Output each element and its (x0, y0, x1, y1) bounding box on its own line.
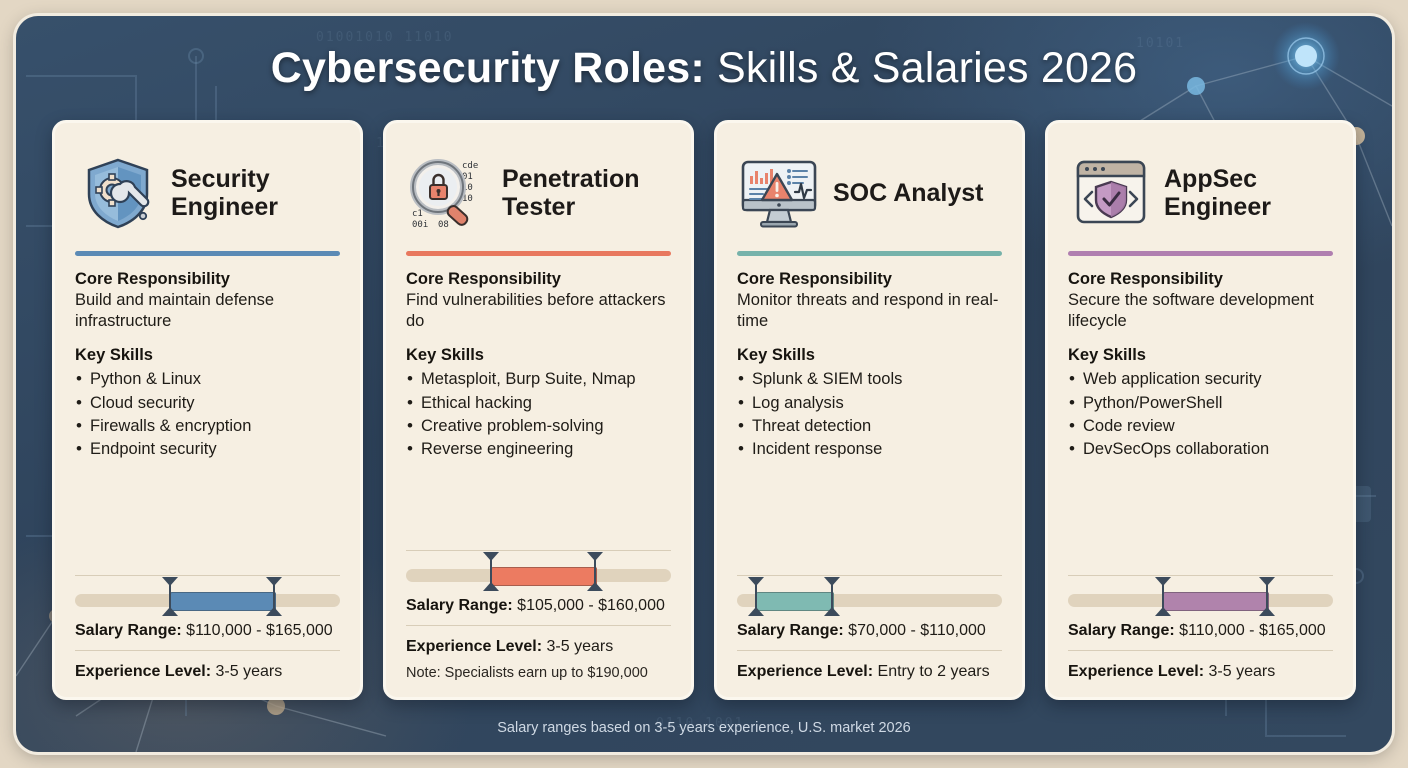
core-responsibility-label: Core Responsibility (737, 270, 1002, 289)
footer-note: Salary ranges based on 3-5 years experie… (16, 720, 1392, 736)
list-item: Python & Linux (75, 368, 340, 391)
accent-bar (737, 251, 1002, 256)
key-skills-list: Web application security Python/PowerShe… (1068, 368, 1333, 462)
key-skills-label: Key Skills (75, 346, 340, 365)
experience-value: 3-5 years (216, 663, 283, 680)
slider-fill (491, 567, 597, 586)
title-strong: Cybersecurity Roles: (271, 44, 705, 92)
salary-range-slider (737, 588, 1002, 612)
key-skills-label: Key Skills (737, 346, 1002, 365)
role-title: AppSec Engineer (1164, 165, 1333, 221)
magnifier-padlock-binary-icon: cde01 1010 c100i 08 (406, 154, 492, 232)
salary-note: Note: Specialists earn up to $190,000 (406, 665, 671, 681)
core-responsibility-label: Core Responsibility (1068, 270, 1333, 289)
list-item: Ethical hacking (406, 392, 671, 415)
role-card-security-engineer[interactable]: Security Engineer Core Responsibility Bu… (52, 120, 363, 700)
list-item: Splunk & SIEM tools (737, 368, 1002, 391)
divider (406, 550, 671, 551)
card-header: cde01 1010 c100i 08 (406, 141, 671, 245)
role-title: SOC Analyst (833, 179, 984, 207)
infographic-poster: 01001010 11010 1001101 10101 0110 1001 C… (0, 0, 1408, 768)
salary-range-slider (406, 563, 671, 587)
experience-value: 3-5 years (547, 638, 614, 655)
svg-text:08: 08 (438, 220, 449, 230)
list-item: DevSecOps collaboration (1068, 438, 1333, 461)
role-card-appsec-engineer[interactable]: AppSec Engineer Core Responsibility Secu… (1045, 120, 1356, 700)
salary-range-value: $70,000 - $110,000 (848, 622, 986, 639)
core-responsibility-label: Core Responsibility (406, 270, 671, 289)
core-responsibility-text: Find vulnerabilities before attackers do (406, 290, 671, 332)
salary-range-label: Salary Range: (1068, 622, 1175, 639)
experience-value: Entry to 2 years (878, 663, 990, 680)
role-title: Security Engineer (171, 165, 340, 221)
key-skills-list: Splunk & SIEM tools Log analysis Threat … (737, 368, 1002, 462)
list-item: Cloud security (75, 392, 340, 415)
key-skills-label: Key Skills (406, 346, 671, 365)
core-responsibility-label: Core Responsibility (75, 270, 340, 289)
salary-range-slider (1068, 588, 1333, 612)
divider (1068, 650, 1333, 651)
list-item: Threat detection (737, 415, 1002, 438)
salary-range-value: $105,000 - $160,000 (517, 597, 665, 614)
list-item: Endpoint security (75, 438, 340, 461)
experience-level: Experience Level: 3-5 years (1068, 663, 1333, 681)
card-header: Security Engineer (75, 141, 340, 245)
core-responsibility-text: Build and maintain defense infrastructur… (75, 290, 340, 332)
card-header: AppSec Engineer (1068, 141, 1333, 245)
accent-bar (75, 251, 340, 256)
accent-bar (406, 251, 671, 256)
divider (75, 650, 340, 651)
divider (406, 625, 671, 626)
salary-range-label: Salary Range: (406, 597, 513, 614)
svg-text:cde: cde (462, 161, 478, 171)
salary-range: Salary Range: $110,000 - $165,000 (1068, 622, 1333, 640)
list-item: Incident response (737, 438, 1002, 461)
list-item: Log analysis (737, 392, 1002, 415)
experience-label: Experience Level: (1068, 663, 1204, 680)
salary-range-label: Salary Range: (737, 622, 844, 639)
salary-range: Salary Range: $70,000 - $110,000 (737, 622, 1002, 640)
experience-level: Experience Level: Entry to 2 years (737, 663, 1002, 681)
role-cards-row: Security Engineer Core Responsibility Bu… (52, 120, 1356, 700)
monitor-alert-dashboard-icon (737, 154, 823, 232)
shield-gear-wrench-icon (75, 154, 161, 232)
salary-range: Salary Range: $105,000 - $160,000 (406, 597, 671, 615)
salary-range: Salary Range: $110,000 - $165,000 (75, 622, 340, 640)
experience-value: 3-5 years (1209, 663, 1276, 680)
divider (75, 575, 340, 576)
experience-level: Experience Level: 3-5 years (406, 638, 671, 656)
slider-fill (756, 592, 834, 611)
key-skills-list: Metasploit, Burp Suite, Nmap Ethical hac… (406, 368, 671, 462)
list-item: Web application security (1068, 368, 1333, 391)
slider-fill (170, 592, 276, 611)
list-item: Metasploit, Burp Suite, Nmap (406, 368, 671, 391)
browser-shield-code-icon (1068, 154, 1154, 232)
core-responsibility-text: Monitor threats and respond in real-time (737, 290, 1002, 332)
key-skills-list: Python & Linux Cloud security Firewalls … (75, 368, 340, 462)
slider-fill (1163, 592, 1269, 611)
key-skills-label: Key Skills (1068, 346, 1333, 365)
list-item: Code review (1068, 415, 1333, 438)
experience-label: Experience Level: (75, 663, 211, 680)
accent-bar (1068, 251, 1333, 256)
salary-range-slider (75, 588, 340, 612)
role-title: Penetration Tester (502, 165, 671, 221)
list-item: Creative problem-solving (406, 415, 671, 438)
card-header: SOC Analyst (737, 141, 1002, 245)
salary-range-label: Salary Range: (75, 622, 182, 639)
divider (737, 575, 1002, 576)
divider (737, 650, 1002, 651)
role-card-soc-analyst[interactable]: SOC Analyst Core Responsibility Monitor … (714, 120, 1025, 700)
experience-label: Experience Level: (406, 638, 542, 655)
salary-range-value: $110,000 - $165,000 (1179, 622, 1326, 639)
svg-text:c1: c1 (412, 209, 423, 219)
role-card-penetration-tester[interactable]: cde01 1010 c100i 08 (383, 120, 694, 700)
experience-label: Experience Level: (737, 663, 873, 680)
core-responsibility-text: Secure the software development lifecycl… (1068, 290, 1333, 332)
list-item: Firewalls & encryption (75, 415, 340, 438)
title-light: Skills & Salaries 2026 (717, 44, 1137, 92)
svg-text:00i: 00i (412, 220, 428, 230)
list-item: Reverse engineering (406, 438, 671, 461)
experience-level: Experience Level: 3-5 years (75, 663, 340, 681)
poster-panel: 01001010 11010 1001101 10101 0110 1001 C… (16, 16, 1392, 752)
page-title: Cybersecurity Roles: Skills & Salaries 2… (16, 44, 1392, 93)
list-item: Python/PowerShell (1068, 392, 1333, 415)
salary-range-value: $110,000 - $165,000 (186, 622, 333, 639)
divider (1068, 575, 1333, 576)
